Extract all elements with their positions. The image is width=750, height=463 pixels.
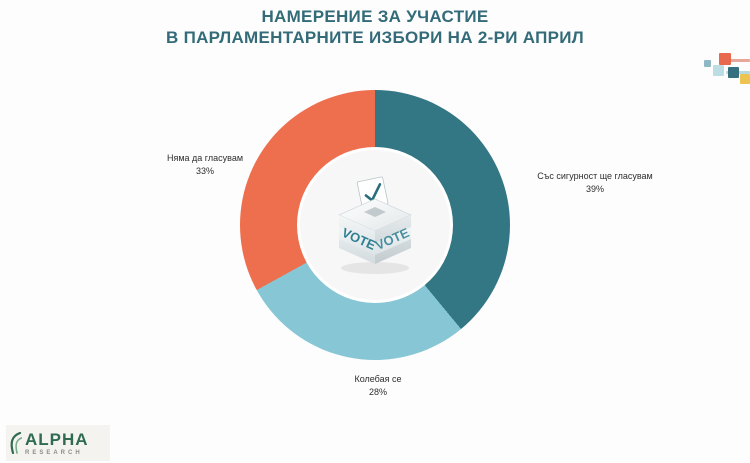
callout-will-not-vote-text: Няма да гласувам xyxy=(167,153,243,163)
callout-undecided-value: 28% xyxy=(308,386,448,399)
page-title: НАМЕРЕНИЕ ЗА УЧАСТИЕ В ПАРЛАМЕНТАРНИТЕ И… xyxy=(0,6,750,48)
logo-mark-icon xyxy=(9,432,22,454)
ballot-box-icon: VOTE VOTE xyxy=(315,165,435,285)
corner-squares-motif-icon xyxy=(700,48,750,84)
donut-chart: VOTE VOTE xyxy=(240,90,510,360)
logo-sub-text: RESEARCH xyxy=(25,450,89,456)
callout-will-vote-text: Със сигурност ще гласувам xyxy=(537,171,652,181)
deco-square-1 xyxy=(704,60,711,67)
callout-will-vote: Със сигурност ще гласувам 39% xyxy=(505,170,685,196)
logo-main-text: ALPHA xyxy=(25,431,89,448)
callout-undecided: Колебая се 28% xyxy=(308,373,448,399)
callout-will-not-vote-value: 33% xyxy=(135,165,275,178)
deco-square-2 xyxy=(713,65,724,76)
slide-canvas: НАМЕРЕНИЕ ЗА УЧАСТИЕ В ПАРЛАМЕНТАРНИТЕ И… xyxy=(0,0,750,463)
callout-will-not-vote: Няма да гласувам 33% xyxy=(135,152,275,178)
callout-will-vote-value: 39% xyxy=(505,183,685,196)
deco-square-4 xyxy=(728,67,739,78)
callout-undecided-text: Колебая се xyxy=(354,374,401,384)
logo-text: ALPHA RESEARCH xyxy=(25,431,89,456)
alpha-research-logo: ALPHA RESEARCH xyxy=(6,425,110,461)
title-line-1: НАМЕРЕНИЕ ЗА УЧАСТИЕ xyxy=(0,6,750,27)
deco-square-5 xyxy=(740,74,750,84)
deco-square-3 xyxy=(719,53,731,65)
title-line-2: В ПАРЛАМЕНТАРНИТЕ ИЗБОРИ НА 2-РИ АПРИЛ xyxy=(0,27,750,48)
